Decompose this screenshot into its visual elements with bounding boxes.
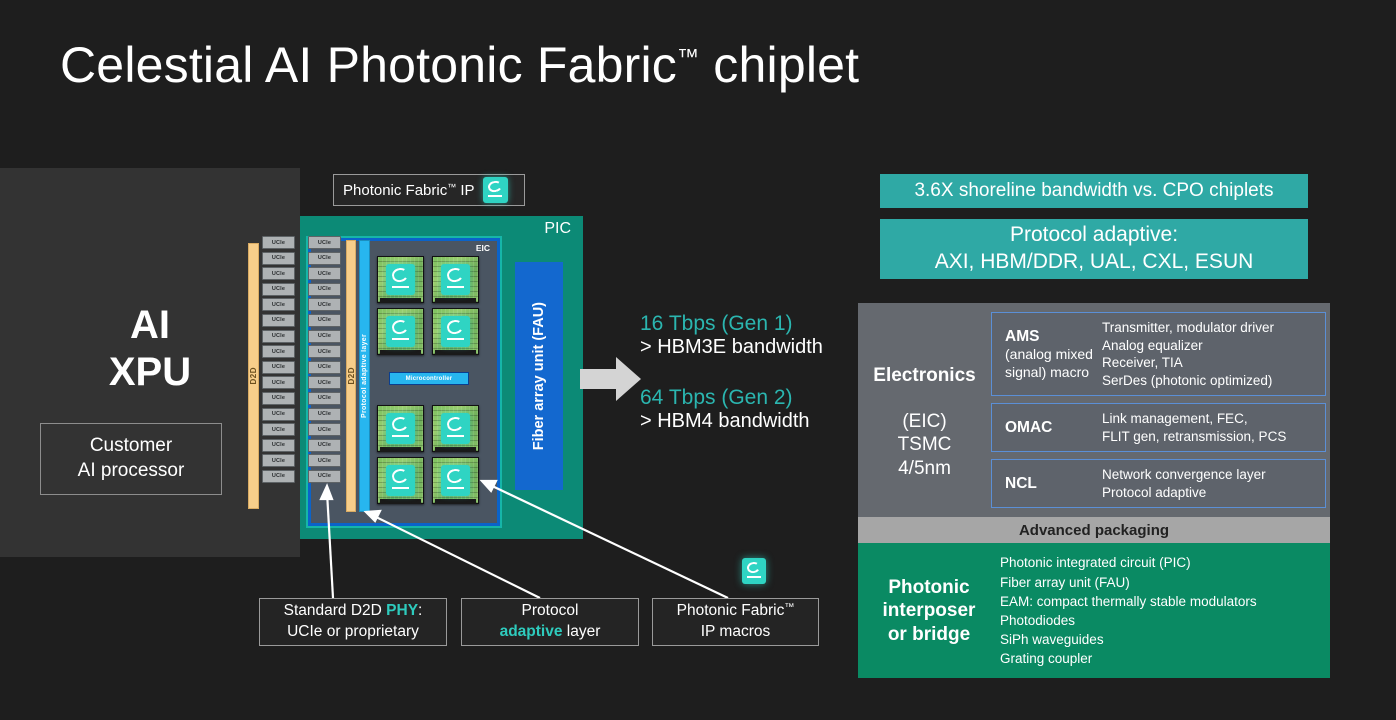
- bandwidth-gen2-headline: 64 Tbps (Gen 2): [640, 386, 810, 410]
- bandwidth-gen2: 64 Tbps (Gen 2) > HBM4 bandwidth: [640, 386, 810, 433]
- customer-ai-processor-box: Customer AI processor: [40, 423, 222, 495]
- electronics-row: AMS(analog mixed signal) macroTransmitte…: [991, 312, 1326, 396]
- ucie-bump: UCIe: [308, 267, 341, 280]
- ucie-bump: UCIe: [262, 252, 295, 265]
- electronics-section: Electronics (EIC) TSMC 4/5nm AMS(analog …: [858, 303, 1330, 517]
- callout1-text: Standard D2D PHY:UCIe or proprietary: [284, 601, 423, 643]
- ucie-bump: UCIe: [308, 454, 341, 467]
- pic-label: PIC: [544, 220, 571, 238]
- celestial-logo-icon: [386, 316, 415, 347]
- bandwidth-gen2-sub: > HBM4 bandwidth: [640, 410, 810, 433]
- ucie-bump: UCIe: [262, 361, 295, 374]
- photonic-fabric-ip-badge: Photonic Fabric™ IP: [333, 174, 525, 206]
- ucie-bump: UCIe: [308, 330, 341, 343]
- callout-protocol-adaptive-layer: Protocoladaptive layer: [461, 598, 639, 646]
- ucie-column-customer: UCIeUCIeUCIeUCIeUCIeUCIeUCIeUCIeUCIeUCIe…: [262, 236, 295, 483]
- ucie-bump: UCIe: [308, 439, 341, 452]
- celestial-logo-mark: [386, 264, 415, 295]
- bandwidth-gen1-sub: > HBM3E bandwidth: [640, 336, 823, 359]
- celestial-logo-icon: [441, 316, 470, 347]
- celestial-logo-mark: [386, 413, 415, 444]
- celestial-logo-icon: [441, 465, 470, 496]
- celestial-logo-icon: [386, 264, 415, 295]
- d2d-bar-customer: D2D: [248, 243, 259, 509]
- ucie-bump: UCIe: [262, 267, 295, 280]
- celestial-logo-mark: [441, 316, 470, 347]
- photonic-interposer-items: Photonic integrated circuit (PIC) Fiber …: [1000, 553, 1330, 668]
- electronics-row: OMACLink management, FEC, FLIT gen, retr…: [991, 403, 1326, 452]
- architecture-stack: Electronics (EIC) TSMC 4/5nm AMS(analog …: [858, 303, 1330, 678]
- celestial-logo-icon: [386, 465, 415, 496]
- photonic-interposer-label: Photonic interposer or bridge: [858, 553, 1000, 668]
- photonic-ip-macro: [377, 405, 424, 452]
- shoreline-bandwidth-bar: 3.6X shoreline bandwidth vs. CPO chiplet…: [880, 174, 1308, 208]
- ucie-bump: UCIe: [262, 408, 295, 421]
- trademark-symbol: ™: [677, 44, 699, 69]
- electronics-subtitle: (EIC) TSMC 4/5nm: [898, 411, 952, 478]
- fiber-array-unit-block: Fiber array unit (FAU): [515, 262, 563, 490]
- protocol-adaptive-bar: Protocol adaptive: AXI, HBM/DDR, UAL, CX…: [880, 219, 1308, 279]
- ucie-bump: UCIe: [308, 283, 341, 296]
- celestial-logo-icon: [483, 177, 508, 203]
- ucie-bump: UCIe: [308, 252, 341, 265]
- ucie-bump: UCIe: [262, 330, 295, 343]
- photonic-ip-macro: [377, 308, 424, 355]
- photonic-ip-macro: [432, 256, 479, 303]
- protocol-adaptive-layer-label: Protocol adaptive layer: [361, 334, 368, 418]
- ucie-bump: UCIe: [308, 392, 341, 405]
- advanced-packaging-band: Advanced packaging: [858, 517, 1330, 543]
- celestial-logo-icon: [441, 264, 470, 295]
- title-suffix: chiplet: [699, 37, 859, 93]
- electronics-row-desc: Network convergence layer Protocol adapt…: [1102, 466, 1325, 501]
- photonic-interposer-section: Photonic interposer or bridge Photonic i…: [858, 543, 1330, 678]
- ucie-bump: UCIe: [262, 298, 295, 311]
- protocol-adaptive-layer-bar: Protocol adaptive layer: [359, 240, 370, 512]
- celestial-logo-mark: [441, 264, 470, 295]
- bandwidth-gen1: 16 Tbps (Gen 1) > HBM3E bandwidth: [640, 312, 823, 359]
- celestial-logo-icon: [386, 413, 415, 444]
- electronics-row-desc: Link management, FEC, FLIT gen, retransm…: [1102, 410, 1325, 445]
- bandwidth-gen1-headline: 16 Tbps (Gen 1): [640, 312, 823, 336]
- d2d-bar-chiplet: D2D: [346, 240, 356, 512]
- ucie-bump: UCIe: [262, 470, 295, 483]
- ucie-bump: UCIe: [262, 423, 295, 436]
- callout3-text: Photonic Fabric™IP macros: [677, 601, 795, 643]
- ucie-bump: UCIe: [262, 314, 295, 327]
- electronics-label: Electronics (EIC) TSMC 4/5nm: [858, 312, 991, 508]
- photonic-fabric-ip-label: Photonic Fabric™ IP: [343, 182, 475, 199]
- electronics-row: NCLNetwork convergence layer Protocol ad…: [991, 459, 1326, 508]
- eic-label: EIC: [476, 243, 490, 253]
- electronics-title: Electronics: [873, 365, 975, 386]
- photonic-ip-macro: [432, 405, 479, 452]
- page-title: Celestial AI Photonic Fabric™ chiplet: [60, 36, 859, 94]
- microcontroller-block: Microcontroller: [389, 372, 469, 385]
- d2d-label: D2D: [347, 367, 356, 385]
- ucie-bump: UCIe: [308, 345, 341, 358]
- ucie-bump: UCIe: [262, 345, 295, 358]
- ucie-bump: UCIe: [262, 376, 295, 389]
- photonic-ip-macro: [377, 457, 424, 504]
- callout-photonic-fabric-ip-macros: Photonic Fabric™IP macros: [652, 598, 819, 646]
- electronics-row-desc: Transmitter, modulator driver Analog equ…: [1102, 319, 1325, 389]
- fau-label: Fiber array unit (FAU): [531, 302, 547, 450]
- ucie-bump: UCIe: [308, 423, 341, 436]
- ucie-bump: UCIe: [262, 283, 295, 296]
- ucie-column-chiplet: UCIeUCIeUCIeUCIeUCIeUCIeUCIeUCIeUCIeUCIe…: [308, 236, 341, 483]
- celestial-logo-mark: [441, 465, 470, 496]
- celestial-logo-mark: [483, 177, 508, 203]
- ucie-bump: UCIe: [262, 439, 295, 452]
- celestial-logo-mark: [742, 558, 766, 584]
- ucie-bump: UCIe: [262, 392, 295, 405]
- electronics-row-name: OMAC: [992, 418, 1102, 437]
- slide-root: Celestial AI Photonic Fabric™ chiplet AI…: [0, 0, 1396, 720]
- callout-standard-d2d-phy: Standard D2D PHY:UCIe or proprietary: [259, 598, 447, 646]
- ucie-bump: UCIe: [308, 298, 341, 311]
- photonic-ip-macro: [377, 256, 424, 303]
- ucie-bump: UCIe: [308, 408, 341, 421]
- ucie-bump: UCIe: [308, 470, 341, 483]
- electronics-rows: AMS(analog mixed signal) macroTransmitte…: [991, 312, 1330, 508]
- ucie-bump: UCIe: [308, 236, 341, 249]
- d2d-label: D2D: [249, 367, 258, 385]
- ucie-bump: UCIe: [308, 314, 341, 327]
- electronics-row-name: NCL: [992, 474, 1102, 493]
- celestial-logo-icon: [441, 413, 470, 444]
- celestial-logo-mark: [441, 413, 470, 444]
- ucie-bump: UCIe: [262, 236, 295, 249]
- electronics-row-name: AMS(analog mixed signal) macro: [992, 327, 1102, 381]
- ucie-bump: UCIe: [308, 361, 341, 374]
- ucie-bump: UCIe: [262, 454, 295, 467]
- ucie-bump: UCIe: [308, 376, 341, 389]
- photonic-ip-macro: [432, 308, 479, 355]
- celestial-logo-mark: [386, 465, 415, 496]
- title-prefix: Celestial AI Photonic Fabric: [60, 37, 677, 93]
- celestial-logo-mark: [386, 316, 415, 347]
- celestial-logo-icon-floating: [742, 558, 766, 584]
- flow-arrow-icon: [580, 356, 642, 402]
- photonic-ip-macro: [432, 457, 479, 504]
- callout2-text: Protocoladaptive layer: [500, 601, 601, 643]
